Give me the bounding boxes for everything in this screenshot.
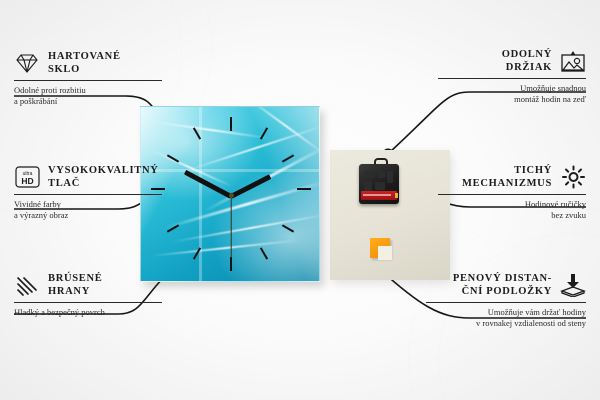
feature-ground-edges: BRÚSENÉ HRANY Hladký a bezpečný povrch [14, 272, 162, 318]
feature-title: BRÚSENÉ HRANY [48, 272, 103, 298]
feature-tempered-glass: HARTOVANÉ SKLO Odolné proti rozbitiu a p… [14, 50, 162, 107]
feature-rule [14, 302, 162, 303]
second-hand [230, 196, 231, 258]
feature-rule [14, 80, 162, 81]
hour-tick [297, 188, 311, 190]
diamond-icon [14, 51, 40, 75]
feature-rule [438, 194, 586, 195]
feature-foam-pads: PENOVÝ DISTAN- ČNÍ PODLOŽKY Umožňuje vám… [426, 272, 586, 329]
feature-rule [14, 194, 162, 195]
mechanism-panel [330, 150, 450, 280]
feature-rule [438, 78, 586, 79]
battery-label [363, 194, 391, 196]
feature-silent-mechanism: TICHÝ MECHANIZMUS Hodinové ručičky bez z… [438, 164, 586, 221]
feature-hd-print: ultra HD VYSOKOKVALITNÝ TLAČ Vividné far… [14, 164, 162, 221]
feature-title: ODOLNÝ DRŽIAK [502, 48, 552, 74]
clock-face [140, 106, 320, 282]
product-clock [140, 106, 320, 282]
feature-subtitle: Hodinové ručičky bez zvuku [438, 199, 586, 221]
feature-subtitle: Umožňuje snadnou montáž hodin na zeď [438, 83, 586, 105]
feature-title: VYSOKOKVALITNÝ TLAČ [48, 164, 159, 190]
hour-tick [230, 257, 232, 271]
feature-subtitle: Odolné proti rozbitiu a poškrábání [14, 85, 162, 107]
battery-terminal [395, 193, 398, 198]
infographic-canvas: HARTOVANÉ SKLO Odolné proti rozbitiu a p… [0, 0, 600, 400]
svg-text:HD: HD [21, 176, 33, 186]
hour-tick [230, 117, 232, 131]
ultra-hd-icon: ultra HD [14, 165, 40, 189]
feature-subtitle: Vividné farby a výrazný obraz [14, 199, 162, 221]
foam-pad-icon [560, 273, 586, 297]
picture-hanger-icon [560, 49, 586, 73]
gear-icon [560, 165, 586, 189]
ground-edges-icon [14, 273, 40, 297]
feature-title: HARTOVANÉ SKLO [48, 50, 121, 76]
feature-hanger: ODOLNÝ DRŽIAK Umožňuje snadnou montáž ho… [438, 48, 586, 105]
feature-subtitle: Hladký a bezpečný povrch [14, 307, 162, 318]
feature-rule [426, 302, 586, 303]
foam-pad-highlight [378, 246, 392, 260]
clock-hub [229, 193, 234, 198]
feature-subtitle: Umožňuje vám držať hodiny v rovnakej vzd… [426, 307, 586, 329]
feature-title: PENOVÝ DISTAN- ČNÍ PODLOŽKY [453, 272, 552, 298]
feature-title: TICHÝ MECHANIZMUS [462, 164, 552, 190]
